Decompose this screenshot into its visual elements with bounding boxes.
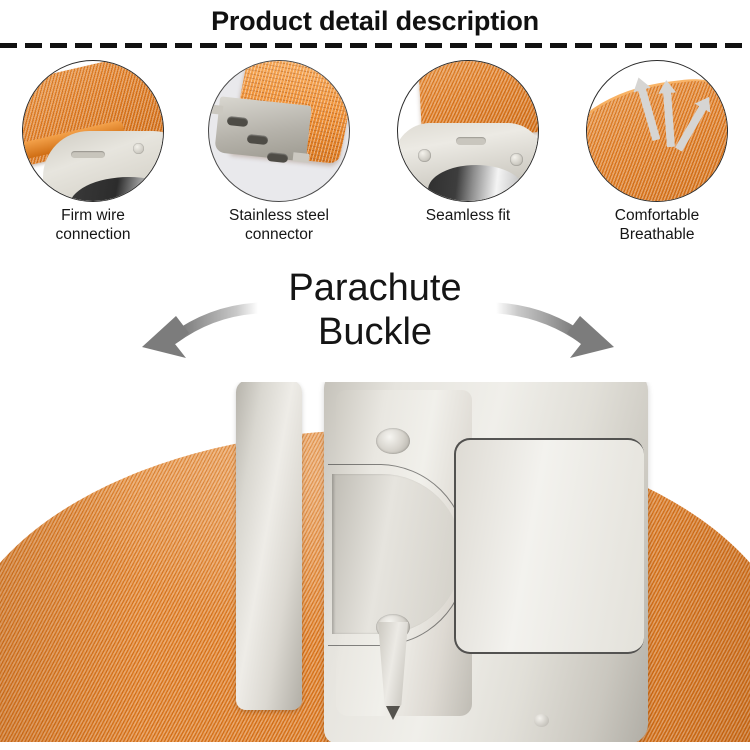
feature-label-seamless-fit: Seamless fit xyxy=(375,206,561,225)
feature-item-seamless-fit: Seamless fit xyxy=(375,58,561,202)
screw-icon xyxy=(59,197,70,202)
screw-icon xyxy=(133,143,144,154)
buckle-release-plate xyxy=(454,438,644,654)
feature-label-comfortable-breathable: Comfortable Breathable xyxy=(564,206,750,244)
parachute-buckle-graphic xyxy=(236,382,648,750)
feature-label-line1: Comfortable xyxy=(615,207,699,224)
feature-item-firm-wire-connection: Firm wire connection xyxy=(0,58,186,202)
feature-item-stainless-steel-connector: Stainless steel connector xyxy=(186,58,372,202)
page-title: Product detail description xyxy=(0,5,750,37)
dashed-divider xyxy=(0,43,750,48)
hero-heading-line1: Parachute xyxy=(288,267,461,309)
feature-label-line2: connector xyxy=(245,226,313,243)
hero-heading-line2: Buckle xyxy=(0,310,750,354)
curved-arrow-left-icon xyxy=(140,300,260,372)
feature-label-line1: Stainless steel xyxy=(229,207,329,224)
hero-product-image xyxy=(0,382,750,750)
hero-heading: Parachute Buckle xyxy=(0,266,750,354)
feature-label-line1: Firm wire xyxy=(61,207,125,224)
buckle-left-bar xyxy=(236,382,302,710)
feature-label-line2: Breathable xyxy=(620,226,695,243)
case-slot-graphic xyxy=(456,137,486,145)
feature-image-firm-wire-connection xyxy=(22,60,164,202)
screw-icon xyxy=(418,149,431,162)
connector-tab-graphic xyxy=(208,104,223,115)
feature-label-stainless-steel-connector: Stainless steel connector xyxy=(186,206,372,244)
feature-image-stainless-steel-connector xyxy=(208,60,350,202)
buckle-rivet xyxy=(376,428,410,454)
hero-bottom-margin xyxy=(0,742,750,750)
feature-item-comfortable-breathable: Comfortable Breathable xyxy=(564,58,750,202)
feature-label-line1: Seamless fit xyxy=(426,207,510,224)
curved-arrow-right-icon xyxy=(492,300,617,372)
buckle-bottom-screw xyxy=(534,714,549,727)
case-slot-graphic xyxy=(71,151,105,158)
product-detail-page: Product detail description Firm wire con… xyxy=(0,0,750,750)
feature-label-line2: connection xyxy=(56,226,131,243)
feature-image-comfortable-breathable xyxy=(586,60,728,202)
feature-image-seamless-fit xyxy=(397,60,539,202)
feature-label-firm-wire-connection: Firm wire connection xyxy=(0,206,186,244)
connector-tab-graphic xyxy=(293,152,310,163)
feature-row: Firm wire connection Stainless steel con… xyxy=(0,58,750,248)
screw-icon xyxy=(510,153,523,166)
connector-lug-graphic xyxy=(267,152,289,163)
